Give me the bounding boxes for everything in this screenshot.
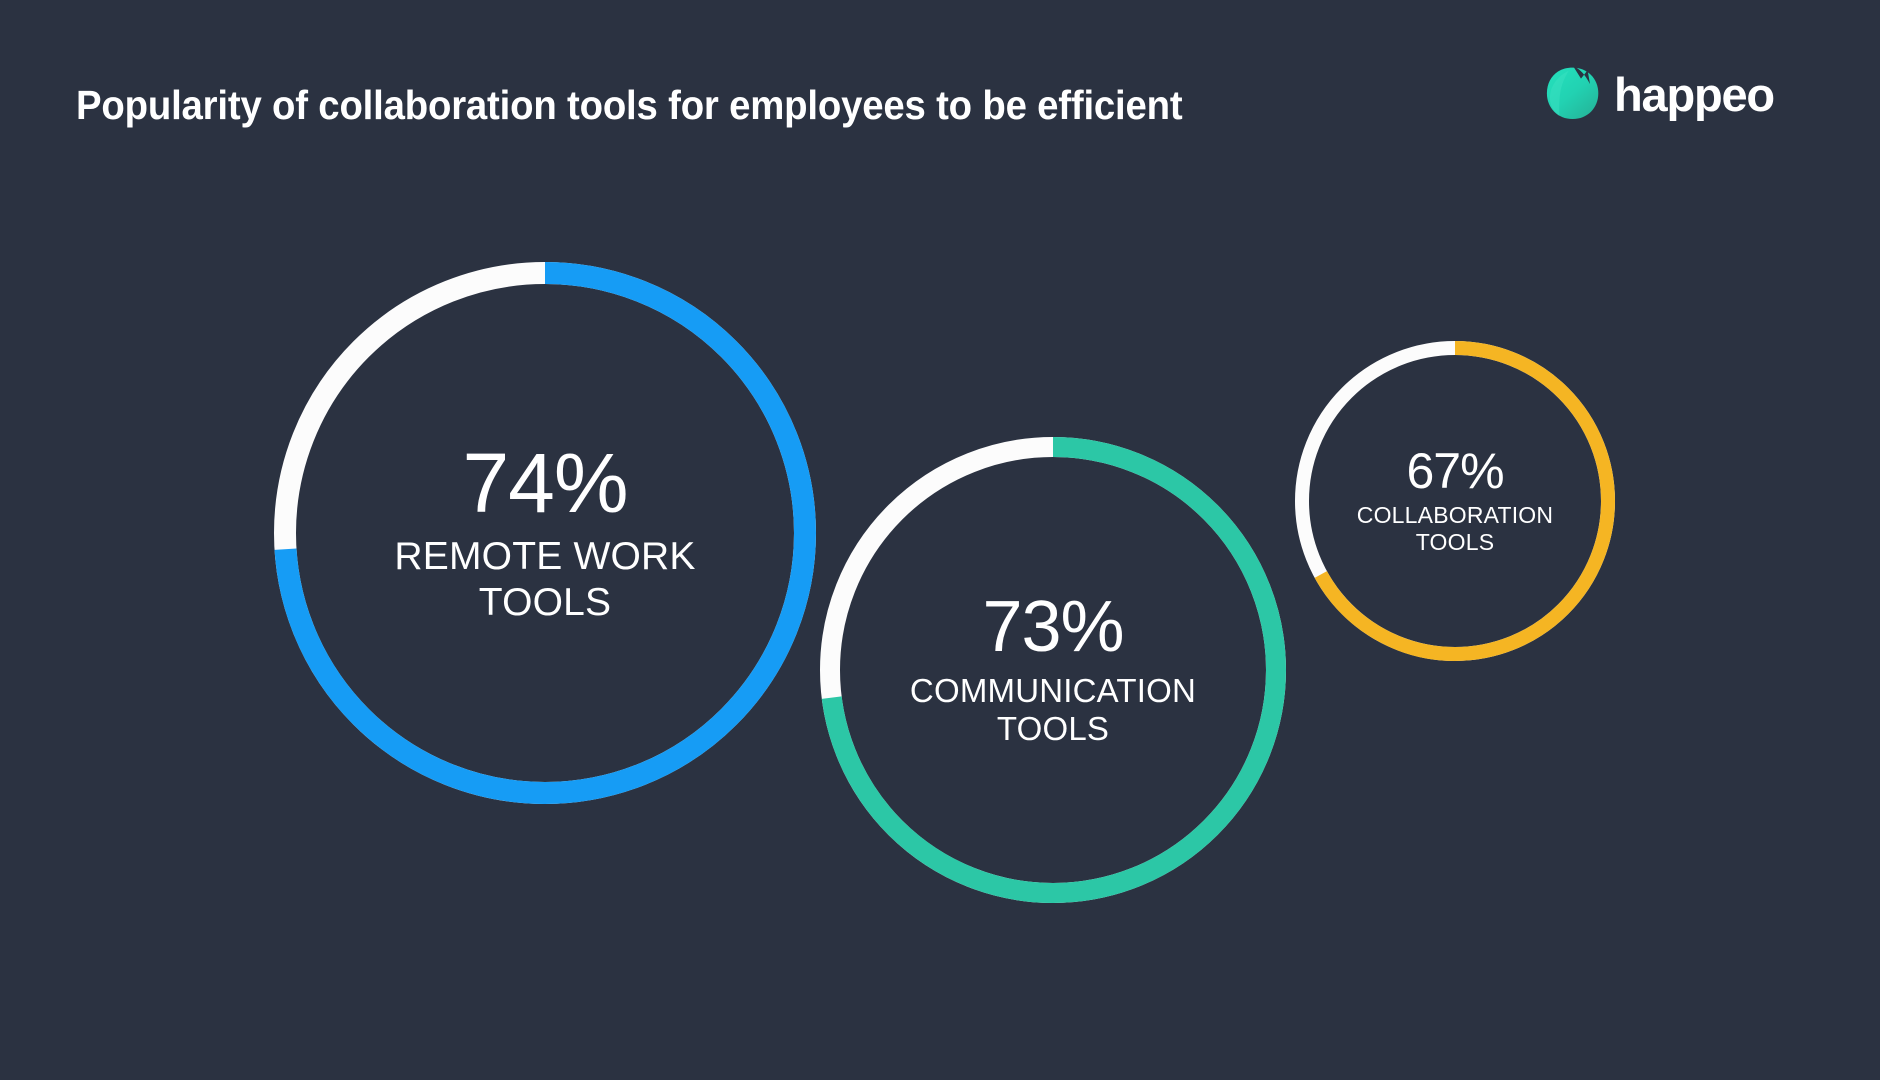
donut-chart-communication-tools: 73% COMMUNICATION TOOLS	[820, 437, 1286, 903]
donut-chart-collaboration-tools: 67% COLLABORATION TOOLS	[1295, 341, 1615, 661]
donut-ring-collaboration-tools	[1295, 341, 1615, 661]
donut-ring-communication-tools	[820, 437, 1286, 903]
donut-chart-remote-work-tools: 74% REMOTE WORK TOOLS	[274, 262, 816, 804]
donut-chart-group: 74% REMOTE WORK TOOLS 73% COMMUNICATION …	[0, 0, 1880, 1080]
donut-ring-remote-work-tools	[274, 262, 816, 804]
